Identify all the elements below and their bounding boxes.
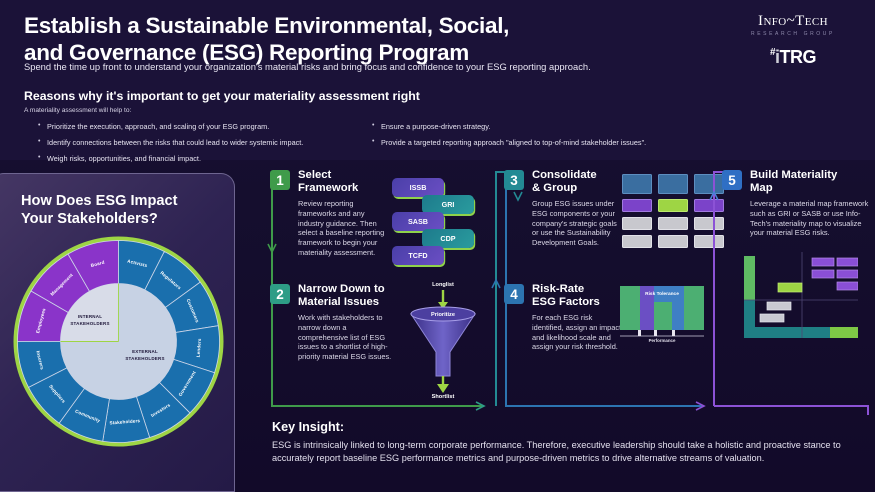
step-2-title-line2: Material Issues (298, 296, 379, 308)
map-axis-bottom-bar (744, 327, 830, 338)
grid-cell-gray (622, 217, 652, 230)
key-insight: Key Insight: ESG is intrinsically linked… (272, 420, 862, 464)
grid-header-cell (622, 174, 652, 194)
risk-chart-label-tolerance: Risk Tolerance (645, 291, 679, 297)
step-1-body: Review reporting frameworks and any indu… (298, 199, 391, 258)
grid-cell-green (658, 199, 688, 212)
infographic-root: Establish a Sustainable Environmental, S… (0, 0, 875, 492)
logo-research-group: RESEARCH GROUP (733, 31, 853, 37)
step-1-title-line1: Select (298, 169, 331, 181)
grid-cell-gray (658, 217, 688, 230)
step-column-1: 1 Select Framework Review reporting fram… (262, 160, 488, 418)
step-5-title-line1: Build Materiality (750, 169, 837, 181)
step-4-title-line2: ESG Factors (532, 296, 600, 308)
map-item-green (778, 283, 802, 292)
grid-cell-purple (622, 199, 652, 212)
wheel-external-label-2: STAKEHOLDERS (125, 356, 164, 361)
step-2-title-line1: Narrow Down to (298, 283, 385, 295)
connector-arrow-3 (514, 192, 522, 200)
funnel-label-top: Longlist (432, 282, 454, 288)
stakeholder-title-line1: How Does ESG Impact (21, 193, 178, 209)
header: Establish a Sustainable Environmental, S… (0, 0, 875, 160)
step-5-title-line2: Map (750, 182, 773, 194)
grid-cell-gray (658, 235, 688, 248)
step-2-body: Work with stakeholders to narrow down a … (298, 313, 396, 362)
connector-path-3 (714, 172, 728, 406)
risk-chart-tick (638, 330, 641, 336)
logo: Info~Tech RESEARCH GROUP #iTRG (733, 14, 853, 66)
step-4-title-line1: Risk-Rate (532, 283, 584, 295)
map-item-purple (837, 270, 858, 278)
connector-path-3b (714, 406, 868, 415)
key-insight-heading: Key Insight: (272, 420, 862, 434)
wheel-external-label-1: EXTERNAL (132, 349, 158, 354)
step-3-number: 3 (504, 170, 524, 190)
funnel-label-mid: Prioritize (431, 312, 455, 318)
reasons-subheading: A materiality assessment will help to: (24, 107, 131, 114)
step-4-title: Risk-Rate ESG Factors (532, 283, 600, 309)
step-1-number: 1 (270, 170, 290, 190)
stakeholder-wheel: INTERNAL STAKEHOLDERS EXTERNAL STAKEHOLD… (12, 235, 225, 448)
page-subtitle: Spend the time up front to understand yo… (24, 61, 724, 73)
reasons-bullets-right: Ensure a purpose-driven strategy. Provid… (372, 123, 702, 155)
map-item-gray (760, 314, 784, 322)
risk-chart-tick (654, 330, 657, 336)
risk-chart-tick (672, 330, 675, 336)
funnel-diagram: Longlist Prioritize Shortlist (398, 276, 488, 398)
page-title-line1: Establish a Sustainable Environmental, S… (24, 13, 509, 38)
step-column-3: 5 Build Materiality Map Leverage a mater… (708, 160, 875, 418)
step-2-number: 2 (270, 284, 290, 304)
funnel-label-bottom: Shortlist (432, 394, 455, 398)
logo-itrg-badge: #iTRG (733, 48, 853, 66)
map-item-purple (837, 282, 858, 290)
stakeholder-panel-title: How Does ESG Impact Your Stakeholders? (21, 192, 178, 229)
framework-badges: ISSB GRI SASB CDP TCFD (392, 178, 488, 264)
step-1-title-line2: Framework (298, 182, 358, 194)
logo-itrg-trg: TRG (780, 47, 817, 67)
map-item-purple (812, 258, 834, 266)
funnel-shape (411, 314, 475, 376)
risk-tolerance-chart: Risk Tolerance Performance (618, 284, 706, 354)
step-column-2: 3 Consolidate & Group Group ESG issues u… (488, 160, 708, 418)
map-item-purple (837, 258, 858, 266)
step-3-title-line1: Consolidate (532, 169, 597, 181)
list-item: Ensure a purpose-driven strategy. (372, 123, 702, 130)
list-item: Prioritize the execution, approach, and … (38, 123, 368, 130)
process-steps: 1 Select Framework Review reporting fram… (262, 160, 875, 422)
step-2-title: Narrow Down to Material Issues (298, 283, 385, 309)
step-3-body: Group ESG issues under ESG components or… (532, 199, 624, 248)
risk-chart-notch (654, 302, 672, 330)
step-5-title: Build Materiality Map (750, 169, 837, 195)
list-item: Identify connections between the risks t… (38, 139, 368, 146)
grid-cell-gray (622, 235, 652, 248)
step-4-number: 4 (504, 284, 524, 304)
step-5-number: 5 (722, 170, 742, 190)
risk-chart-label-performance: Performance (649, 338, 676, 343)
map-item-purple (812, 270, 834, 278)
map-item-gray (767, 302, 791, 310)
funnel-arrow-bottom-head (437, 384, 449, 393)
wheel-internal-label-1: INTERNAL (78, 314, 102, 319)
stakeholder-title-line2: Your Stakeholders? (21, 211, 158, 227)
map-axis-bottom-green (830, 327, 858, 338)
stakeholder-panel: How Does ESG Impact Your Stakeholders? I… (0, 173, 235, 492)
key-insight-body: ESG is intrinsically linked to long-term… (272, 439, 862, 464)
step-1-title: Select Framework (298, 169, 358, 195)
step-4-body: For each ESG risk identified, assign an … (532, 313, 624, 352)
logo-infotech: Info~Tech (733, 14, 853, 29)
step-3-title-line2: & Group (532, 182, 577, 194)
step-5-body: Leverage a material map framework such a… (750, 199, 872, 238)
reasons-heading: Reasons why it's important to get your m… (24, 89, 420, 103)
grid-header-cell (658, 174, 688, 194)
map-axis-upper-bar (744, 256, 755, 300)
framework-badge-tcfd[interactable]: TCFD (392, 246, 444, 265)
wheel-internal-label-2: STAKEHOLDERS (70, 321, 109, 326)
list-item: Provide a targeted reporting approach "a… (372, 139, 702, 146)
page-title: Establish a Sustainable Environmental, S… (24, 12, 624, 67)
materiality-map-diagram (734, 252, 858, 348)
step-3-title: Consolidate & Group (532, 169, 597, 195)
